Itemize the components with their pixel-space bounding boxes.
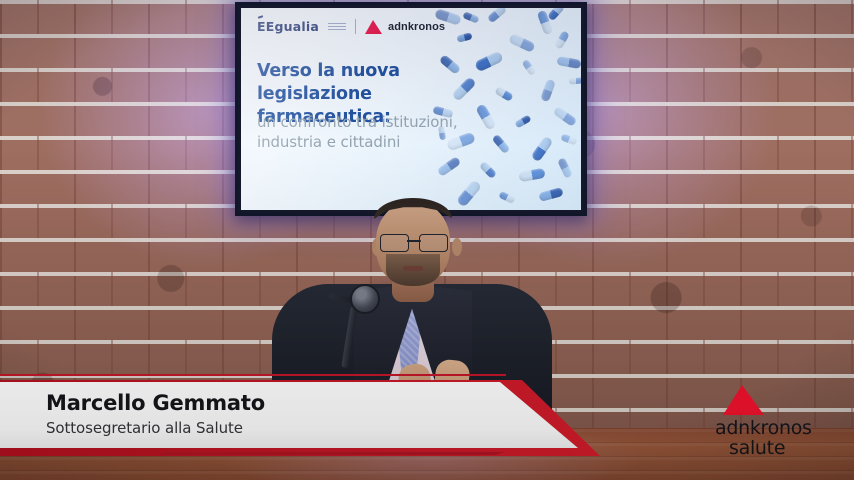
capsule bbox=[487, 8, 507, 23]
capsule bbox=[462, 11, 479, 23]
watermark-line-2: salute bbox=[729, 437, 839, 459]
lower-third-top-accent bbox=[0, 374, 506, 376]
capsule bbox=[439, 54, 462, 75]
egualia-logo-subtext bbox=[328, 23, 346, 31]
capsule bbox=[530, 135, 553, 162]
capsule bbox=[494, 86, 514, 102]
capsule bbox=[438, 126, 446, 141]
slide: EEgualia adnkronos Verso la nuova legisl… bbox=[241, 8, 581, 210]
capsule bbox=[437, 156, 462, 177]
presentation-screen: EEgualia adnkronos Verso la nuova legisl… bbox=[235, 2, 587, 216]
capsule bbox=[556, 56, 581, 69]
capsule-graphics bbox=[429, 8, 581, 210]
capsule bbox=[557, 157, 573, 179]
speaker-name: Marcello Gemmato bbox=[46, 391, 265, 415]
ak-mark-icon bbox=[365, 19, 383, 34]
capsule bbox=[560, 133, 577, 145]
capsule bbox=[547, 8, 565, 21]
capsule bbox=[522, 59, 537, 76]
egualia-logo: EEgualia bbox=[257, 19, 319, 34]
logo-divider bbox=[355, 19, 356, 34]
ear-right bbox=[452, 238, 462, 256]
capsule bbox=[514, 114, 531, 128]
capsule bbox=[434, 8, 462, 26]
ak-logo-icon bbox=[723, 385, 765, 415]
watermark-line-1: adnkronos bbox=[715, 417, 825, 439]
capsule bbox=[456, 32, 472, 43]
capsule bbox=[432, 106, 453, 119]
capsule bbox=[518, 168, 545, 182]
glasses-icon bbox=[380, 234, 448, 250]
capsule bbox=[479, 161, 497, 179]
capsule bbox=[492, 134, 511, 154]
capsule bbox=[508, 33, 536, 53]
capsule bbox=[553, 106, 578, 127]
capsule bbox=[475, 103, 497, 131]
capsule bbox=[474, 51, 504, 73]
capsule bbox=[554, 30, 570, 50]
speaker-mouth bbox=[403, 266, 423, 271]
microphone-icon bbox=[350, 284, 380, 314]
speaker-role: Sottosegretario alla Salute bbox=[46, 419, 243, 437]
video-frame: EEgualia adnkronos Verso la nuova legisl… bbox=[0, 0, 854, 480]
channel-watermark: adnkronos salute bbox=[715, 385, 825, 459]
capsule bbox=[569, 77, 581, 84]
capsule bbox=[540, 79, 556, 103]
capsule bbox=[451, 76, 476, 101]
capsule bbox=[446, 132, 476, 152]
lower-third-bottom-accent bbox=[160, 452, 505, 455]
lower-third-banner: Marcello Gemmato Sottosegretario alla Sa… bbox=[0, 374, 620, 460]
